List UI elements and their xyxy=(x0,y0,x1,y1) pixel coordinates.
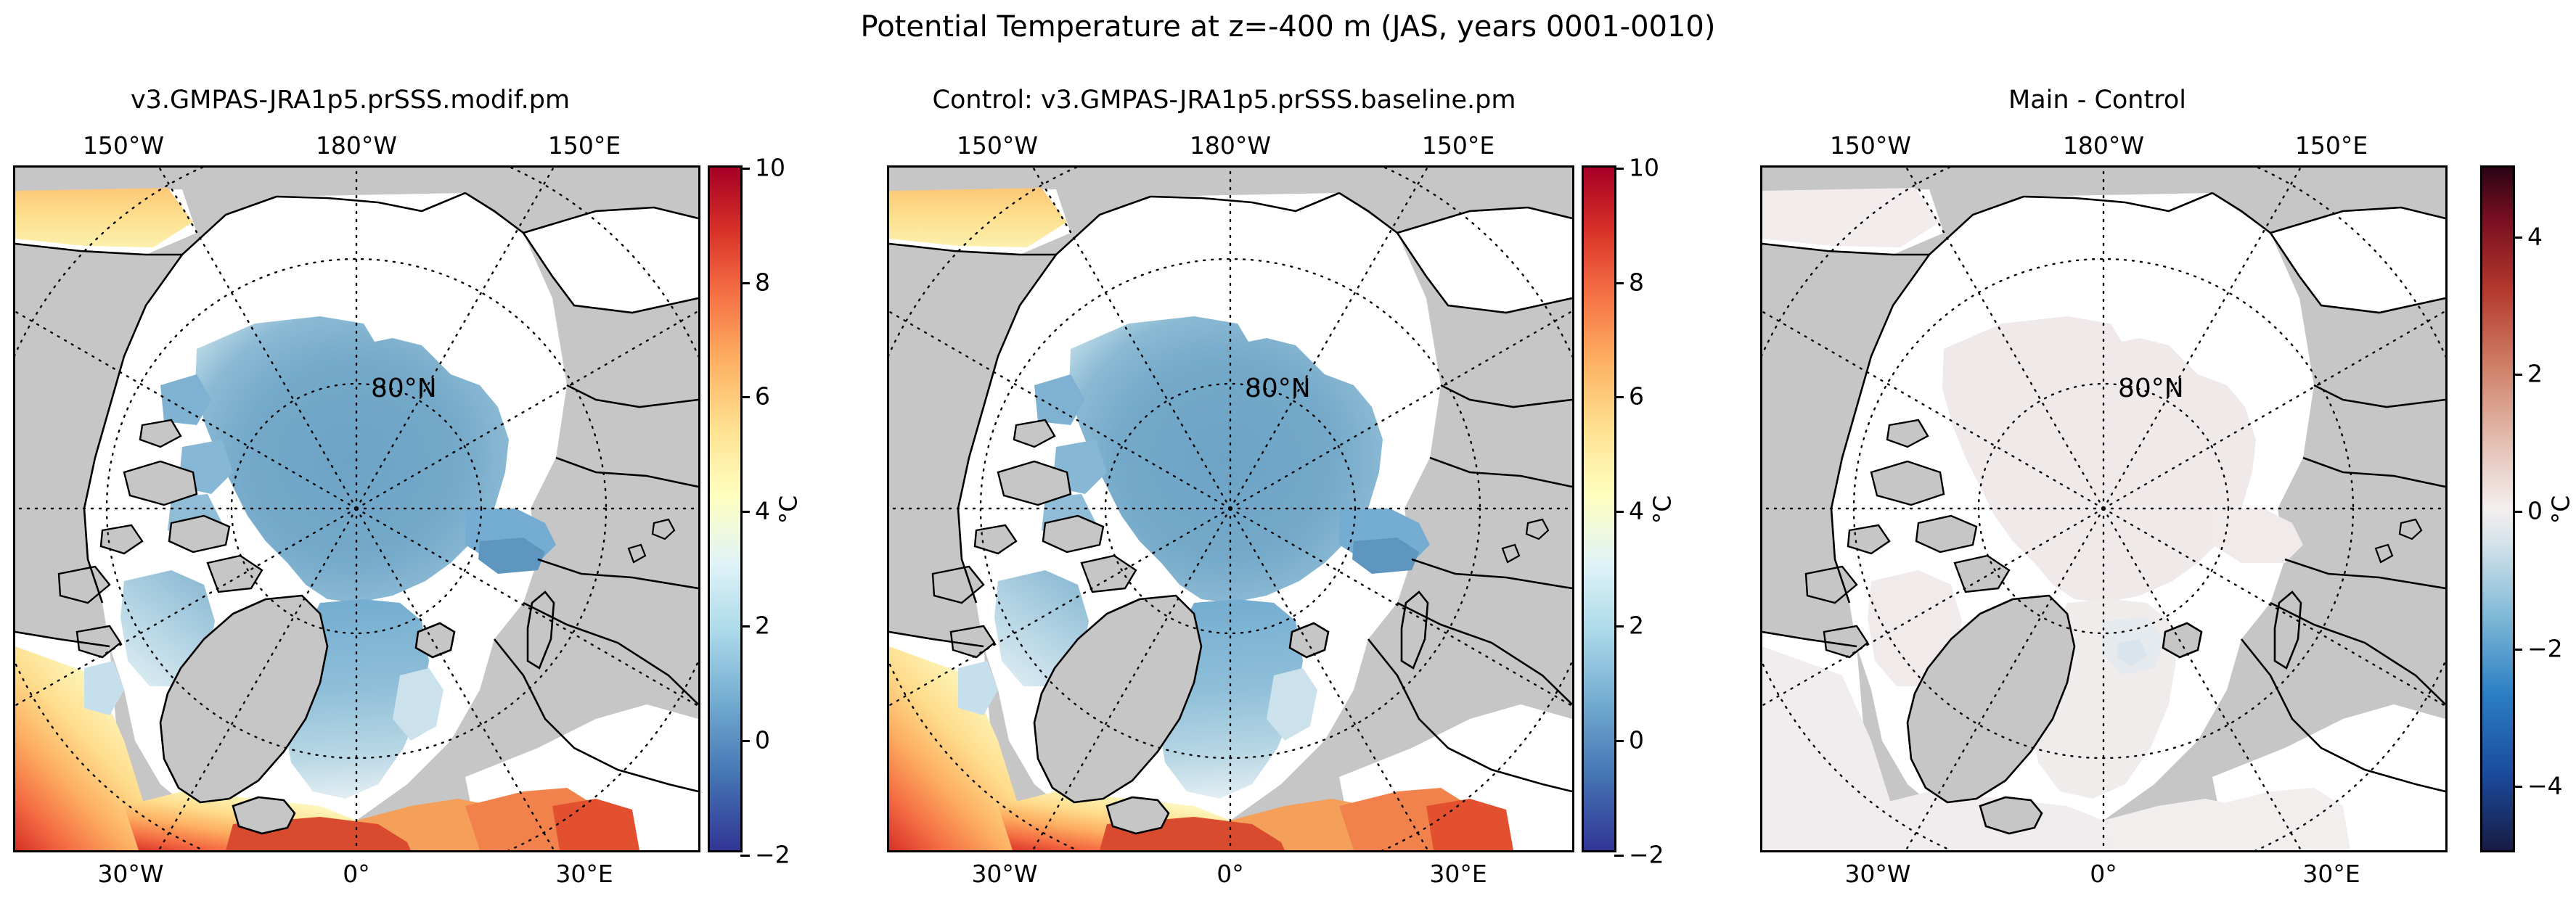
cbar-tick-main-5 xyxy=(740,282,750,284)
lon-label-top-right-main: 150°E xyxy=(526,132,642,160)
lon-label-top-left-main: 150°W xyxy=(65,132,181,160)
cbar-ticklabel-main-5: 8 xyxy=(755,271,770,295)
colorbar-main[interactable]: −2 0 2 4 6 8 10 xyxy=(708,165,743,852)
cbar-ticklabel-control-4: 6 xyxy=(1629,384,1644,408)
cbar-tick-difference-2 xyxy=(2513,511,2522,513)
lon-label-top-center-difference: 180°W xyxy=(2045,132,2162,160)
colorbar-unit-main: °C xyxy=(776,495,800,524)
cbar-tick-main-3 xyxy=(740,511,750,513)
panel-control: Control: v3.GMPAS-JRA1p5.prSSS.baseline.… xyxy=(874,0,1709,901)
cbar-tick-difference-4 xyxy=(2513,236,2522,239)
lon-label-bottom-left-main: 30°W xyxy=(73,860,189,888)
cbar-tick-control-6 xyxy=(1614,168,1624,170)
lon-label-bottom-center-control: 0° xyxy=(1172,860,1288,888)
panel-title-difference: Main - Control xyxy=(1747,86,2448,115)
colorbar-control[interactable]: −2 0 2 4 6 8 10 xyxy=(1582,165,1616,852)
map-axes-control[interactable]: 80°N xyxy=(887,165,1574,852)
lat-label-80n-difference: 80°N xyxy=(2118,374,2184,403)
lon-label-bottom-right-control: 30°E xyxy=(1400,860,1516,888)
figure-canvas: Potential Temperature at z=-400 m (JAS, … xyxy=(0,0,2576,901)
lon-label-top-right-difference: 150°E xyxy=(2273,132,2389,160)
cbar-ticklabel-control-2: 2 xyxy=(1629,614,1644,638)
cbar-tick-main-4 xyxy=(740,396,750,398)
cbar-tick-main-1 xyxy=(740,740,750,742)
cbar-ticklabel-difference-4: 4 xyxy=(2527,225,2543,249)
lon-label-top-right-control: 150°E xyxy=(1400,132,1516,160)
panel-difference: Main - Control 150°W 180°W 150°E xyxy=(1747,0,2576,901)
panel-title-main: v3.GMPAS-JRA1p5.prSSS.modif.pm xyxy=(0,86,700,115)
cbar-ticklabel-main-0: −2 xyxy=(755,843,790,867)
lon-label-bottom-left-difference: 30°W xyxy=(1820,860,1936,888)
lon-label-top-left-difference: 150°W xyxy=(1812,132,1929,160)
map-axes-difference[interactable]: 80°N xyxy=(1760,165,2448,852)
map-svg-difference: 80°N xyxy=(1762,168,2445,850)
cbar-tick-difference-3 xyxy=(2513,374,2522,376)
cbar-tick-control-4 xyxy=(1614,396,1624,398)
colorbar-unit-control: °C xyxy=(1650,495,1674,524)
cbar-ticklabel-main-4: 6 xyxy=(755,384,770,408)
cbar-ticklabel-control-6: 10 xyxy=(1629,156,1659,180)
cbar-ticklabel-main-3: 4 xyxy=(755,499,770,523)
cbar-tick-control-5 xyxy=(1614,282,1624,284)
cbar-tick-control-1 xyxy=(1614,740,1624,742)
colorbar-unit-difference: °C xyxy=(2548,495,2572,524)
map-svg-control: 80°N xyxy=(889,168,1572,850)
lat-label-80n-control: 80°N xyxy=(1245,374,1311,403)
lon-label-top-left-control: 150°W xyxy=(939,132,1055,160)
cbar-ticklabel-difference-2: 0 xyxy=(2527,499,2543,523)
cbar-tick-control-3 xyxy=(1614,511,1624,513)
cbar-ticklabel-main-1: 0 xyxy=(755,728,770,752)
cbar-ticklabel-difference-3: 2 xyxy=(2527,362,2543,386)
cbar-ticklabel-control-1: 0 xyxy=(1629,728,1644,752)
cbar-tick-main-0 xyxy=(740,855,750,857)
cbar-ticklabel-difference-0: −4 xyxy=(2527,774,2563,798)
lon-label-bottom-center-main: 0° xyxy=(298,860,414,888)
cbar-tick-difference-0 xyxy=(2513,786,2522,788)
map-axes-main[interactable]: 80°N xyxy=(13,165,700,852)
cbar-tick-control-2 xyxy=(1614,625,1624,628)
cbar-ticklabel-difference-1: −2 xyxy=(2527,637,2563,661)
colorbar-difference[interactable]: −4 −2 0 2 4 xyxy=(2480,165,2515,852)
cbar-tick-main-6 xyxy=(740,168,750,170)
lon-label-bottom-right-difference: 30°E xyxy=(2273,860,2389,888)
lon-label-bottom-center-difference: 0° xyxy=(2045,860,2162,888)
panel-title-control: Control: v3.GMPAS-JRA1p5.prSSS.baseline.… xyxy=(874,86,1574,115)
map-svg-main: 80°N xyxy=(15,168,698,850)
cbar-ticklabel-main-2: 2 xyxy=(755,614,770,638)
cbar-tick-difference-1 xyxy=(2513,649,2522,651)
lon-label-bottom-left-control: 30°W xyxy=(946,860,1063,888)
cbar-ticklabel-control-0: −2 xyxy=(1629,843,1664,867)
cbar-ticklabel-control-5: 8 xyxy=(1629,271,1644,295)
lon-label-top-center-control: 180°W xyxy=(1172,132,1288,160)
cbar-ticklabel-control-3: 4 xyxy=(1629,499,1644,523)
lat-label-80n-main: 80°N xyxy=(371,374,437,403)
panel-main: v3.GMPAS-JRA1p5.prSSS.modif.pm 150°W 180… xyxy=(0,0,835,901)
lon-label-top-center-main: 180°W xyxy=(298,132,414,160)
cbar-tick-control-0 xyxy=(1614,855,1624,857)
cbar-ticklabel-main-6: 10 xyxy=(755,156,785,180)
cbar-tick-main-2 xyxy=(740,625,750,628)
lon-label-bottom-right-main: 30°E xyxy=(526,860,642,888)
